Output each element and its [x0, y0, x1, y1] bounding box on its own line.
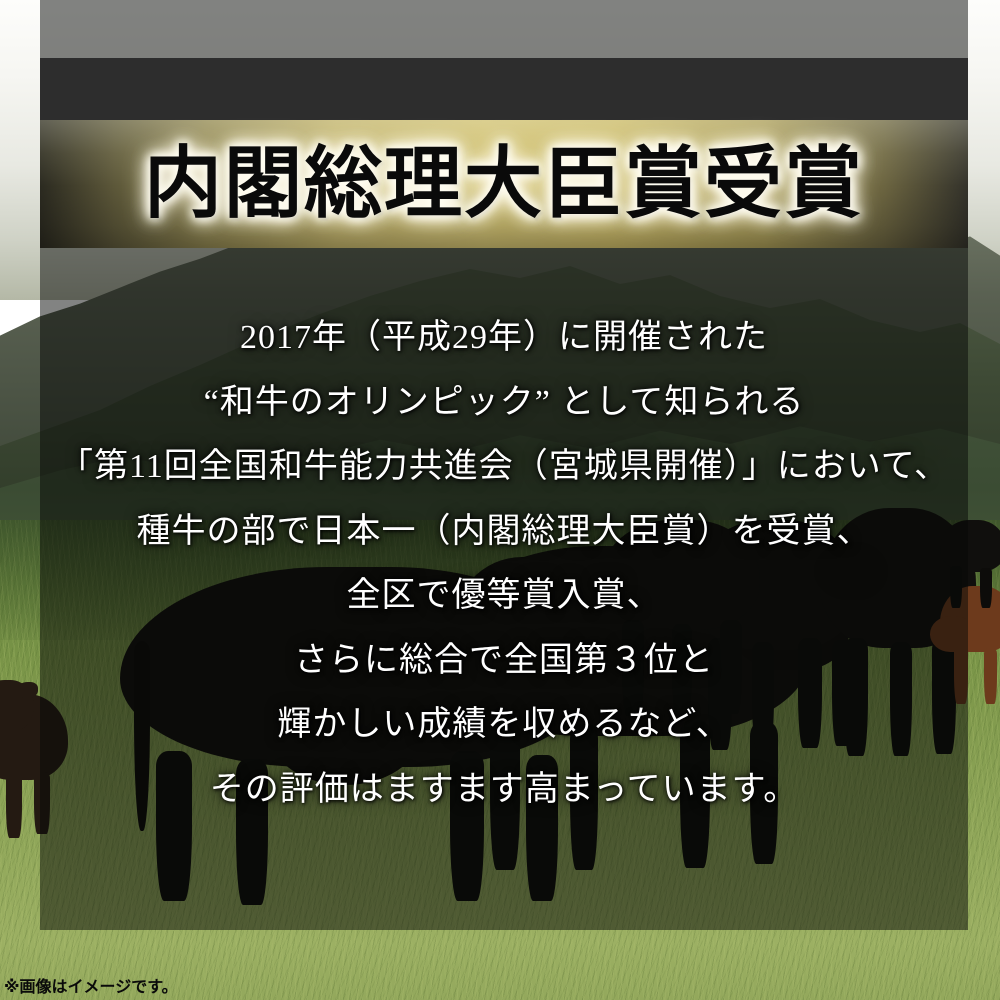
body-line-8: その評価はますます高まっています。 [40, 758, 968, 823]
body-line-5: 全区で優等賞入賞、 [40, 564, 968, 629]
body-line-4: 種牛の部で日本一（内閣総理大臣賞）を受賞、 [40, 500, 968, 565]
header-dark-band [40, 58, 968, 120]
image-disclaimer: ※画像はイメージです。 [4, 973, 178, 997]
body-line-6: さらに総合で全国第３位と [40, 629, 968, 694]
body-line-3: 「第11回全国和牛能力共進会（宮城県開催）」において、 [40, 435, 968, 500]
promo-banner: 内閣総理大臣賞受賞 2017年（平成29年）に開催された “和牛のオリンピック”… [0, 0, 1000, 1000]
body-copy: 2017年（平成29年）に開催された “和牛のオリンピック” として知られる 「… [40, 306, 968, 822]
page-title: 内閣総理大臣賞受賞 [40, 132, 968, 236]
body-line-2: “和牛のオリンピック” として知られる [40, 371, 968, 436]
body-line-1: 2017年（平成29年）に開催された [40, 306, 968, 371]
body-line-7: 輝かしい成績を収めるなど、 [40, 693, 968, 758]
